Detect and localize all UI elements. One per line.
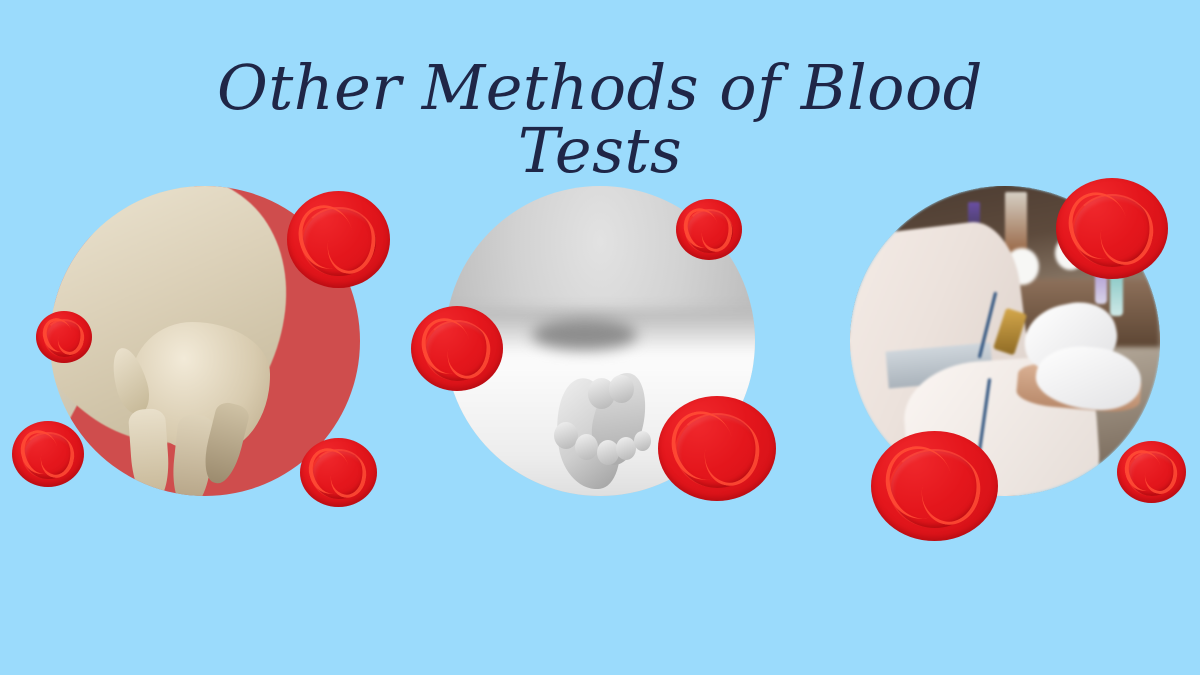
red-blood-cell-icon — [300, 438, 377, 507]
red-blood-cell-icon — [36, 311, 92, 363]
red-blood-cell-icon — [287, 191, 390, 288]
slide-canvas: Other Methods of Blood Tests Finger Pric… — [0, 0, 1200, 675]
toe-shape — [634, 431, 651, 451]
toe-shape — [609, 375, 634, 403]
red-blood-cell-icon — [1056, 178, 1168, 279]
page-title: Other Methods of Blood Tests — [0, 56, 1200, 182]
red-blood-cell-icon — [676, 199, 742, 260]
red-blood-cell-icon — [12, 421, 84, 487]
red-blood-cell-icon — [411, 306, 503, 391]
toe-shape — [616, 437, 636, 460]
toe-shape — [597, 440, 619, 465]
red-blood-cell-icon — [1117, 441, 1186, 503]
red-blood-cell-icon — [871, 431, 998, 541]
red-blood-cell-icon — [658, 396, 776, 501]
